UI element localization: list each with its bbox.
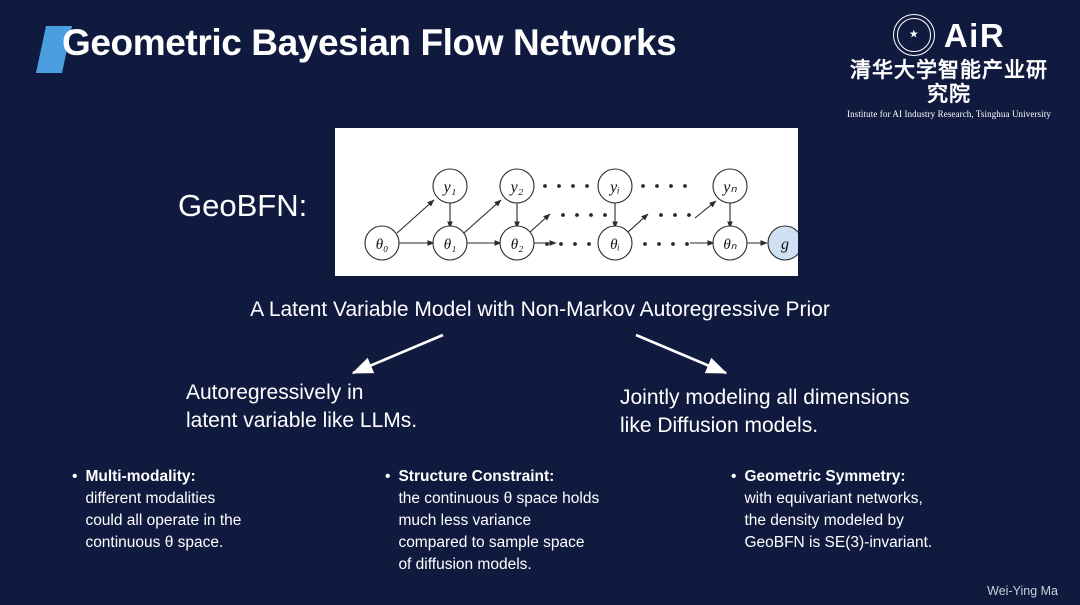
svg-text:yₙ: yₙ — [721, 179, 737, 196]
diagram-top-nodes: y₁ y₂ yᵢ yₙ — [433, 169, 747, 203]
svg-text:g: g — [781, 236, 789, 253]
branch-right-line1: Jointly modeling all dimensions — [620, 384, 909, 412]
graphical-model-svg: y₁ y₂ yᵢ yₙ θ₀ θ₁ θ₂ θᵢ θₙ — [335, 128, 798, 276]
bullet-body: with equivariant networks,the density mo… — [744, 488, 932, 554]
bullet-marker-icon: • — [731, 466, 736, 554]
bullet-marker-icon: • — [72, 466, 77, 554]
bullet-heading: Structure Constraint: — [398, 466, 599, 488]
svg-text:y₁: y₁ — [442, 179, 457, 196]
logo-english-name: Institute for AI Industry Research, Tsin… — [840, 109, 1058, 119]
branch-arrows-svg — [0, 325, 1080, 395]
svg-text:θ₀: θ₀ — [376, 237, 389, 253]
air-wordmark: AiR — [944, 19, 1005, 52]
air-tsinghua-logo: ★ AiR 清华大学智能产业研究院 Institute for AI Indus… — [840, 14, 1058, 119]
svg-text:θₙ: θₙ — [723, 237, 737, 253]
graphical-model-panel: y₁ y₂ yᵢ yₙ θ₀ θ₁ θ₂ θᵢ θₙ — [335, 128, 798, 276]
svg-text:yᵢ: yᵢ — [608, 179, 620, 196]
bullet-heading: Geometric Symmetry: — [744, 466, 932, 488]
bullet-body: the continuous θ space holdsmuch less va… — [398, 488, 599, 576]
branch-arrows — [0, 325, 1080, 395]
logo-top-row: ★ AiR — [840, 14, 1058, 56]
seal-star-icon: ★ — [909, 30, 919, 41]
branch-text-right: Jointly modeling all dimensions like Dif… — [620, 384, 909, 439]
arrow-right — [636, 335, 726, 373]
bullet-list: • Multi-modality: different modalitiesco… — [0, 466, 1080, 576]
svg-text:θ₂: θ₂ — [511, 237, 524, 253]
branch-right-line2: like Diffusion models. — [620, 412, 909, 440]
slide-root: Geometric Bayesian Flow Networks ★ AiR 清… — [0, 0, 1080, 605]
svg-text:y₂: y₂ — [509, 179, 524, 196]
svg-text:θ₁: θ₁ — [444, 237, 457, 253]
branch-left-line1: Autoregressively in — [186, 379, 417, 407]
page-title: Geometric Bayesian Flow Networks — [62, 22, 676, 64]
bullet-item-multi-modality: • Multi-modality: different modalitiesco… — [72, 466, 372, 554]
branch-left-line2: latent variable like LLMs. — [186, 407, 417, 435]
bullet-item-structure-constraint: • Structure Constraint: the continuous θ… — [385, 466, 705, 576]
svg-text:θᵢ: θᵢ — [610, 237, 620, 253]
geobfn-label: GeoBFN: — [178, 188, 307, 224]
model-caption: A Latent Variable Model with Non-Markov … — [0, 298, 1080, 322]
bullet-heading: Multi-modality: — [85, 466, 241, 488]
logo-chinese-name: 清华大学智能产业研究院 — [840, 58, 1058, 106]
arrow-left — [353, 335, 443, 373]
author-footer: Wei-Ying Ma — [987, 584, 1058, 598]
bullet-body: different modalitiescould all operate in… — [85, 488, 241, 554]
tsinghua-seal-icon: ★ — [893, 14, 935, 56]
branch-text-left: Autoregressively in latent variable like… — [186, 379, 417, 434]
bullet-marker-icon: • — [385, 466, 390, 576]
diagram-output-node: g — [768, 226, 798, 260]
bullet-item-geometric-symmetry: • Geometric Symmetry: with equivariant n… — [731, 466, 1051, 554]
